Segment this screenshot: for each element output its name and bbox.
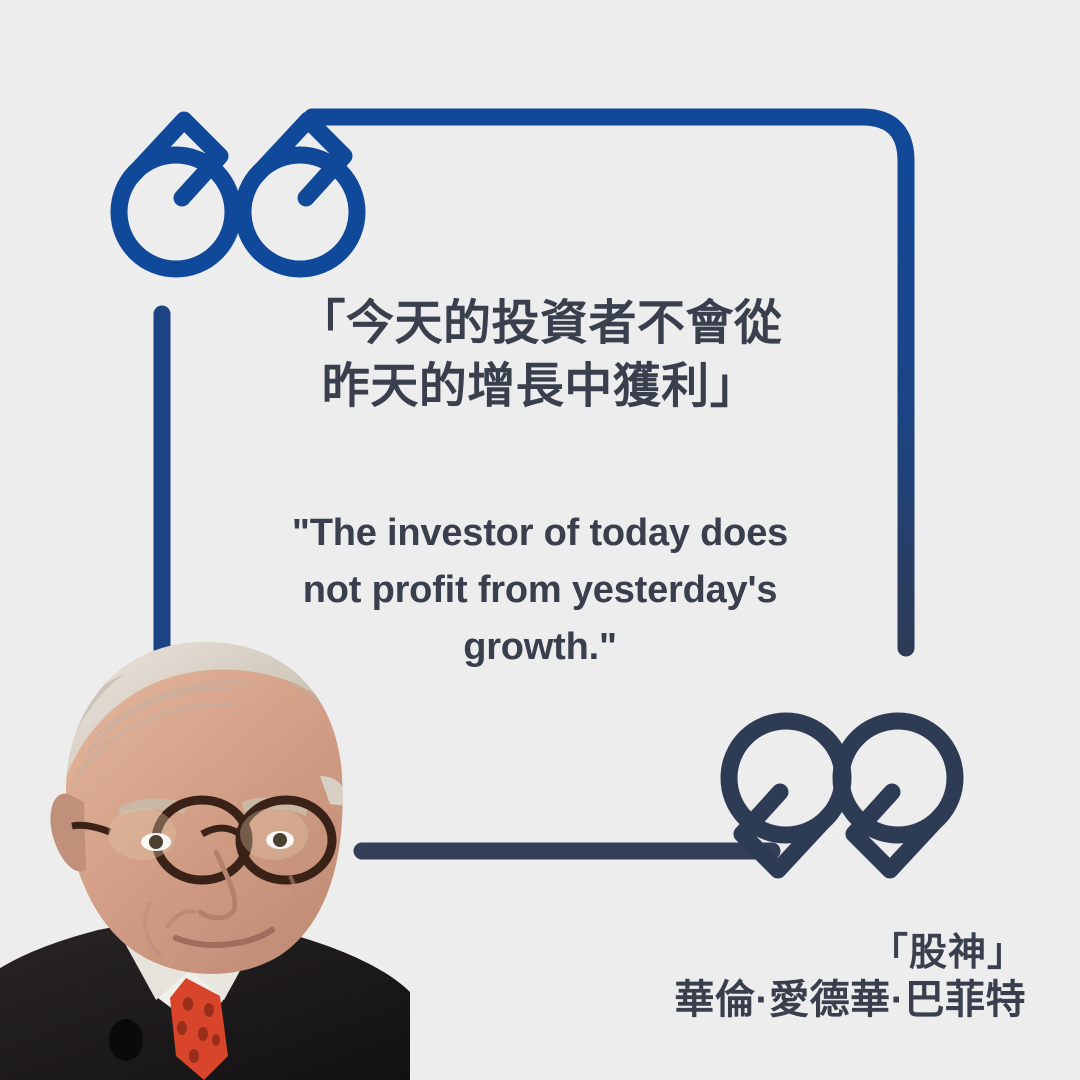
quote-english-line-1: "The investor of today does [228, 505, 852, 562]
quote-text-block: 「今天的投資者不會從 昨天的增長中獲利」 "The investor of to… [228, 292, 852, 676]
quote-chinese: 「今天的投資者不會從 昨天的增長中獲利」 [228, 292, 852, 419]
attribution-block: 「股神」 華倫·愛德華·巴菲特 [566, 930, 1026, 1025]
close-quote-mark [729, 721, 955, 870]
open-quote-mark [119, 120, 357, 269]
attribution-name: 華倫·愛德華·巴菲特 [566, 976, 1026, 1025]
portrait-illustration [0, 626, 410, 1080]
quote-card: 「今天的投資者不會從 昨天的增長中獲利」 "The investor of to… [0, 0, 1080, 1080]
quote-chinese-line-1: 「今天的投資者不會從 [228, 292, 852, 355]
warren-buffett-portrait [0, 626, 410, 1080]
quote-chinese-line-2: 昨天的增長中獲利」 [228, 355, 852, 418]
attribution-role: 「股神」 [566, 930, 1026, 976]
quote-english-line-2: not profit from yesterday's [228, 562, 852, 619]
portrait-head [37, 626, 370, 974]
